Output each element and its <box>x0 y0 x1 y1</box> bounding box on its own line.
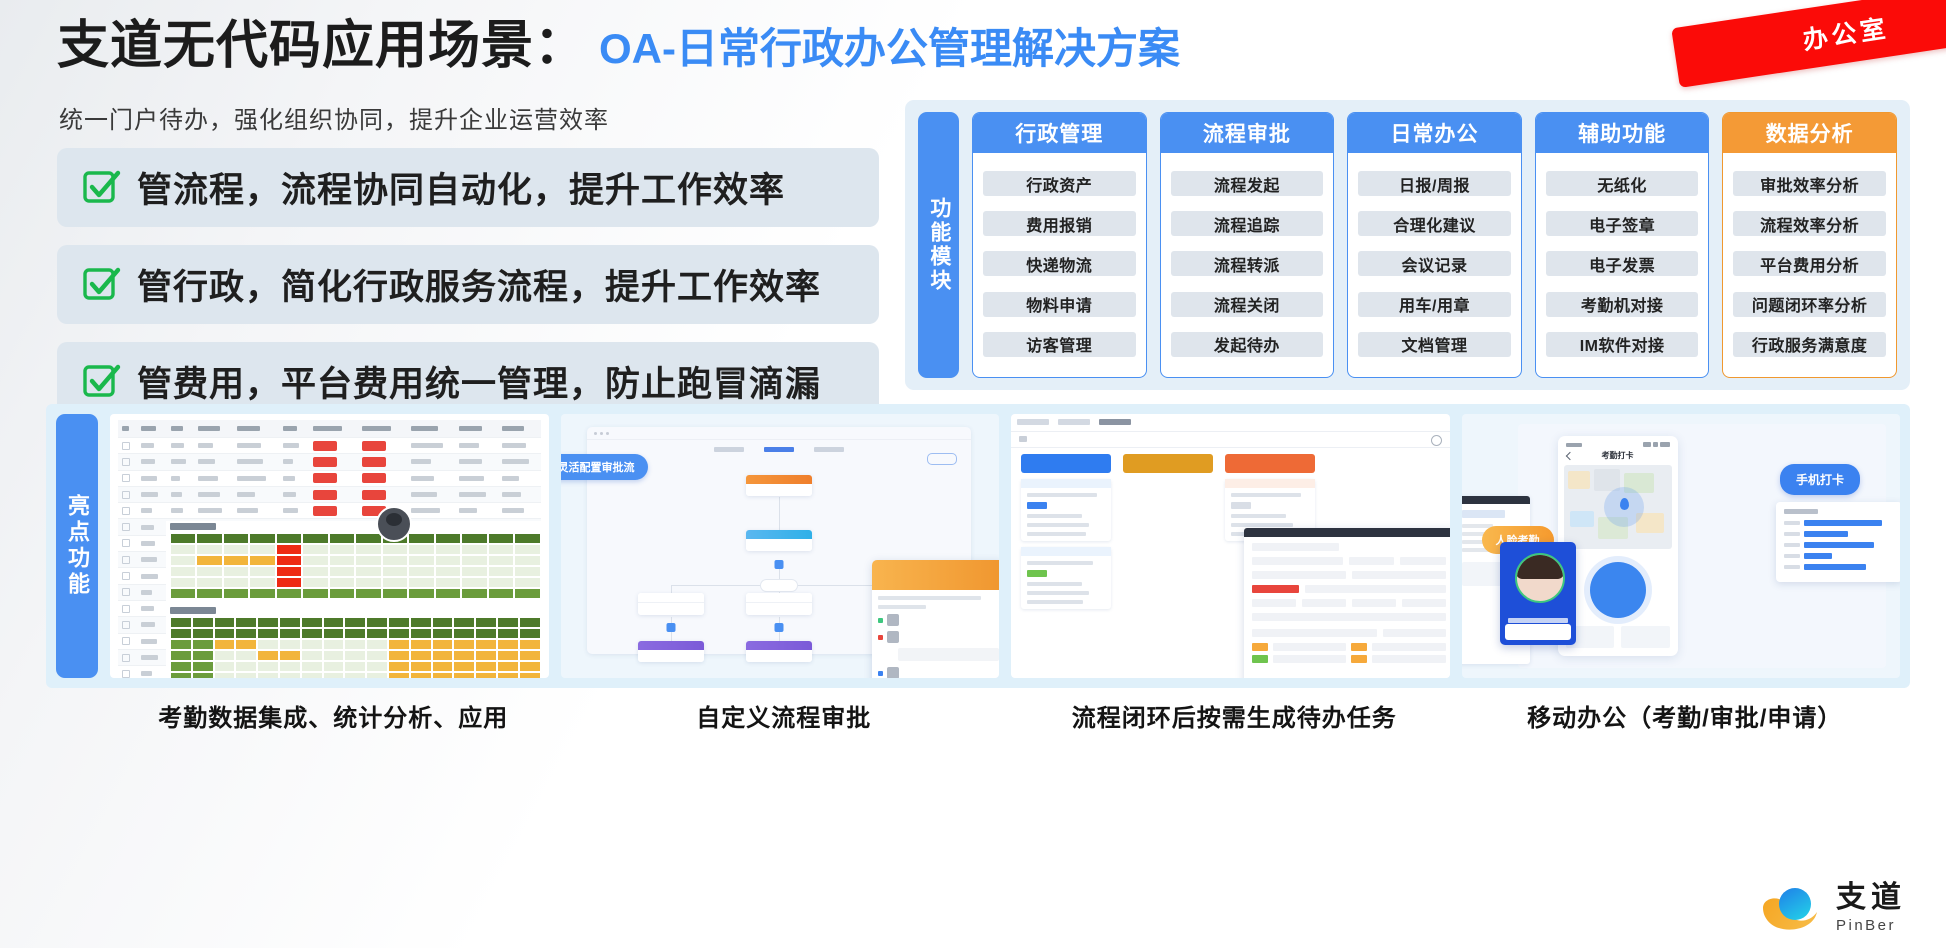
table-cell <box>118 539 137 547</box>
table-cell <box>118 426 137 431</box>
tab[interactable] <box>1058 419 1090 425</box>
avatar <box>887 631 899 643</box>
module-item[interactable]: 用车/用章 <box>1358 292 1511 317</box>
table-cell <box>233 508 279 513</box>
workflow-node-cc[interactable] <box>638 641 704 662</box>
grid-cell <box>223 555 249 566</box>
grid-cell <box>170 661 192 672</box>
back-icon[interactable] <box>1565 451 1573 459</box>
cell-text <box>141 443 154 448</box>
status-badge <box>313 506 337 516</box>
grid-cell <box>514 555 540 566</box>
cell-text <box>283 492 296 497</box>
tab-active[interactable] <box>764 447 794 452</box>
grid-cell <box>453 639 475 650</box>
grid-cell <box>170 672 192 678</box>
form-field[interactable] <box>1252 557 1343 565</box>
grid-cell <box>170 639 192 650</box>
table-cell <box>233 426 279 431</box>
approver-row <box>878 614 999 626</box>
module-item[interactable]: 电子发票 <box>1546 251 1699 276</box>
module-item-list: 流程发起 流程追踪 流程转派 流程关闭 发起待办 <box>1161 153 1334 377</box>
form-field[interactable] <box>1252 571 1346 579</box>
workflow-node-branch[interactable] <box>746 593 812 615</box>
cell-text <box>141 606 154 611</box>
table-cell <box>194 508 233 513</box>
grid-cell <box>276 577 302 588</box>
grid-cell <box>514 588 540 599</box>
form-field[interactable] <box>1383 629 1446 637</box>
cell-text <box>459 443 479 448</box>
module-item[interactable]: 考勤机对接 <box>1546 292 1699 317</box>
kanban-column-header <box>1123 454 1213 473</box>
grid-row <box>170 639 541 650</box>
status-badge <box>362 490 386 500</box>
cell-text <box>411 492 438 497</box>
form-field[interactable] <box>1352 571 1446 579</box>
node-header <box>638 641 704 650</box>
side-label-text: 亮点功能 <box>61 494 93 598</box>
screenshot-kanban[interactable] <box>1011 414 1450 678</box>
grid-cell <box>461 577 487 588</box>
grid-cell <box>196 533 222 544</box>
grid-cell <box>514 577 540 588</box>
table-cell <box>309 457 358 467</box>
status-badge <box>362 473 386 483</box>
row-checkbox[interactable] <box>122 507 130 515</box>
chart-bar-row <box>1784 564 1894 570</box>
grid-cell <box>170 566 196 577</box>
grid-cell <box>453 650 475 661</box>
form-field[interactable] <box>1302 599 1346 607</box>
grid-cell <box>323 628 345 639</box>
workflow-node-approve[interactable] <box>746 530 812 551</box>
grid-cell <box>366 672 388 678</box>
node-header <box>638 593 704 603</box>
cell-text <box>459 476 484 481</box>
attendance-stats-grid <box>170 617 541 678</box>
status-dot-icon <box>878 671 883 676</box>
module-column-title: 数据分析 <box>1723 113 1896 153</box>
module-column-daily: 日常办公 日报/周报 合理化建议 会议记录 用车/用章 文档管理 <box>1347 112 1522 378</box>
attendance-record-grid <box>170 533 541 599</box>
panel-body <box>1244 537 1450 669</box>
node-body <box>638 650 704 662</box>
recognition-result-row <box>1505 624 1571 640</box>
signal-icon <box>1643 442 1651 447</box>
grid-cell <box>170 577 196 588</box>
page-subtitle: 统一门户待办，强化组织协同，提升企业运营效率 <box>59 100 609 135</box>
grid-cell <box>475 672 497 678</box>
form-field[interactable] <box>1349 557 1395 565</box>
badge-mobile-punch: 手机打卡 <box>1780 464 1860 495</box>
grid-cell <box>488 544 514 555</box>
table-cell <box>407 459 456 464</box>
module-item[interactable]: 物料申请 <box>983 292 1136 317</box>
logo-mark-icon <box>1761 882 1823 934</box>
module-item[interactable]: 流程发起 <box>1171 171 1324 196</box>
table-row[interactable] <box>118 503 541 519</box>
tab[interactable] <box>814 447 844 452</box>
grid-cell <box>235 672 257 678</box>
table-cell <box>118 523 137 531</box>
node-header <box>746 641 812 650</box>
table-cell <box>407 508 456 513</box>
check-square-icon <box>82 265 121 304</box>
chart-title-placeholder <box>170 523 216 530</box>
table-cell <box>407 476 456 481</box>
grid-cell <box>257 672 279 678</box>
approver-row <box>878 631 999 643</box>
table-row[interactable] <box>118 487 541 503</box>
module-item[interactable]: 平台费用分析 <box>1733 251 1886 276</box>
row-checkbox[interactable] <box>122 523 130 531</box>
grid-cell <box>497 617 519 628</box>
grid-cell <box>475 661 497 672</box>
grid-row <box>170 544 541 555</box>
table-cell <box>167 459 194 464</box>
grid-cell <box>355 544 381 555</box>
card-header <box>872 560 999 590</box>
grid-cell <box>388 661 410 672</box>
logo-text: 支道 PinBer <box>1836 883 1906 933</box>
save-button[interactable] <box>927 453 957 465</box>
kanban-card[interactable] <box>1021 479 1111 541</box>
grid-cell <box>355 555 381 566</box>
grid-cell <box>344 617 366 628</box>
cell-text <box>141 655 158 660</box>
row-checkbox[interactable] <box>122 588 130 596</box>
table-cell <box>279 476 309 481</box>
form-field[interactable] <box>1252 629 1377 637</box>
grid-cell <box>249 533 275 544</box>
grid-cell <box>192 628 214 639</box>
module-column-title: 日常办公 <box>1348 113 1521 153</box>
grid-cell <box>382 588 408 599</box>
module-item[interactable]: 文档管理 <box>1358 332 1511 357</box>
row-checkbox[interactable] <box>122 491 130 499</box>
grid-cell <box>170 588 196 599</box>
module-item[interactable]: 流程转派 <box>1171 251 1324 276</box>
form-field[interactable] <box>1252 543 1339 551</box>
table-cell <box>118 442 137 450</box>
table-cell <box>118 458 137 466</box>
cell-text <box>283 443 299 448</box>
table-cell <box>137 426 167 431</box>
status-badge <box>313 457 337 467</box>
function-modules-panel: 功能模块 行政管理 行政资产 费用报销 快递物流 物料申请 访客管理 流程审批 … <box>905 100 1910 390</box>
phone-footer <box>1566 626 1670 648</box>
cell-text <box>237 443 260 448</box>
node-header <box>746 593 812 603</box>
grid-cell <box>192 617 214 628</box>
module-item[interactable]: 快递物流 <box>983 251 1136 276</box>
check-square-icon <box>82 362 121 401</box>
grid-row <box>170 661 541 672</box>
module-column-analytics: 数据分析 审批效率分析 流程效率分析 平台费用分析 问题闭环率分析 行政服务满意… <box>1722 112 1897 378</box>
module-item[interactable]: 流程追踪 <box>1171 211 1324 236</box>
table-row[interactable] <box>118 471 541 487</box>
row-checkbox[interactable] <box>122 572 130 580</box>
screenshot-workflow[interactable]: 灵活配置审批流 <box>561 414 1000 678</box>
tab-active[interactable] <box>1099 419 1131 425</box>
grid-cell <box>329 566 355 577</box>
grid-cell <box>223 566 249 577</box>
cell-text <box>171 443 184 448</box>
grid-cell <box>196 577 222 588</box>
module-item[interactable]: 流程效率分析 <box>1733 211 1886 236</box>
punch-button[interactable] <box>1590 562 1646 618</box>
row-checkbox[interactable] <box>122 670 130 678</box>
table-cell <box>279 443 309 448</box>
grid-cell <box>366 661 388 672</box>
table-cell <box>167 508 194 513</box>
table-cell <box>118 491 137 499</box>
row-checkbox[interactable] <box>122 605 130 613</box>
attendance-charts <box>166 521 545 676</box>
grid-cell <box>488 555 514 566</box>
chart-title-placeholder <box>1784 509 1818 514</box>
grid-row <box>170 588 541 599</box>
table-cell <box>407 492 456 497</box>
form-field[interactable] <box>1400 557 1446 565</box>
table-cell <box>498 426 541 431</box>
grid-cell <box>408 566 434 577</box>
grid-cell <box>170 544 196 555</box>
module-item[interactable]: 访客管理 <box>983 332 1136 357</box>
title-main: 支道无代码应用场景： <box>57 20 587 72</box>
grid-cell <box>519 672 541 678</box>
grid-row <box>170 555 541 566</box>
grid-cell <box>249 566 275 577</box>
battery-icon <box>1660 442 1670 447</box>
module-item-list: 行政资产 费用报销 快递物流 物料申请 访客管理 <box>973 153 1146 377</box>
grid-cell <box>214 672 236 678</box>
grid-cell <box>514 533 540 544</box>
kanban-column-header <box>1021 454 1111 473</box>
grid-cell <box>192 661 214 672</box>
table-cell <box>358 457 407 467</box>
page-title: 支道无代码应用场景： OA-日常行政办公管理解决方案 <box>57 20 1180 72</box>
grid-cell <box>323 617 345 628</box>
caption: 移动办公（考勤/审批/申请） <box>1460 692 1911 738</box>
module-item[interactable]: 合理化建议 <box>1358 211 1511 236</box>
cell-text <box>198 476 218 481</box>
row-checkbox[interactable] <box>122 474 130 482</box>
workflow-badge: 灵活配置审批流 <box>561 454 648 480</box>
row-checkbox[interactable] <box>122 637 130 645</box>
module-item[interactable]: 流程关闭 <box>1171 292 1324 317</box>
grid-cell <box>519 661 541 672</box>
form-field[interactable] <box>1352 599 1396 607</box>
grid-cell <box>453 617 475 628</box>
grid-cell <box>461 566 487 577</box>
grid-cell <box>235 661 257 672</box>
table-cell <box>309 426 358 431</box>
module-item[interactable]: IM软件对接 <box>1546 332 1699 357</box>
comment-box <box>898 648 999 661</box>
grid-row <box>170 566 541 577</box>
module-item[interactable]: 行政资产 <box>983 171 1136 196</box>
kanban-tabs[interactable] <box>1017 419 1131 425</box>
row-checkbox[interactable] <box>122 621 130 629</box>
row-checkbox[interactable] <box>122 556 130 564</box>
grid-cell <box>301 639 323 650</box>
grid-row <box>170 650 541 661</box>
add-node-icon[interactable] <box>667 623 676 632</box>
module-item[interactable]: 日报/周报 <box>1358 171 1511 196</box>
module-item[interactable]: 无纸化 <box>1546 171 1699 196</box>
row-checkbox[interactable] <box>122 458 130 466</box>
module-item[interactable]: 发起待办 <box>1171 332 1324 357</box>
grid-cell <box>302 577 328 588</box>
workflow-node-start[interactable] <box>746 475 812 496</box>
cell-text <box>198 459 216 464</box>
table-cell <box>194 492 233 497</box>
kanban-card[interactable] <box>1021 547 1111 609</box>
grid-cell <box>453 628 475 639</box>
grid-cell <box>366 639 388 650</box>
cell-text <box>411 443 443 448</box>
grid-cell <box>301 650 323 661</box>
workflow-tabs[interactable] <box>587 447 972 452</box>
grid-cell <box>279 650 301 661</box>
workflow-node-branch[interactable] <box>638 593 704 615</box>
chart-bar-row <box>1784 520 1894 526</box>
row-badge <box>1351 643 1367 651</box>
grid-cell <box>279 661 301 672</box>
cell-text <box>171 459 186 464</box>
grid-cell <box>344 661 366 672</box>
cell-text <box>141 557 157 562</box>
cell-text <box>502 508 524 513</box>
benefit-item: 管流程，流程协同自动化，提升工作效率 <box>57 148 879 227</box>
grid-cell <box>453 672 475 678</box>
form-field[interactable] <box>1252 599 1296 607</box>
screenshot-captions: 考勤数据集成、统计分析、应用 自定义流程审批 流程闭环后按需生成待办任务 移动办… <box>108 692 1910 738</box>
module-item[interactable]: 行政服务满意度 <box>1733 332 1886 357</box>
form-field[interactable] <box>1252 613 1446 621</box>
form-field[interactable] <box>1402 599 1446 607</box>
status-dot-icon <box>878 618 883 623</box>
grid-cell <box>329 544 355 555</box>
map-view[interactable] <box>1564 465 1672 549</box>
grid-cell <box>302 533 328 544</box>
grid-cell <box>388 617 410 628</box>
function-modules-side-label: 功能模块 <box>918 112 959 378</box>
grid-cell <box>276 544 302 555</box>
table-cell <box>118 572 137 580</box>
card-header <box>1021 479 1111 488</box>
module-item[interactable]: 电子签章 <box>1546 211 1699 236</box>
table-cell <box>118 670 137 678</box>
grid-cell <box>249 588 275 599</box>
grid-row <box>170 628 541 639</box>
workflow-node-cc[interactable] <box>746 641 812 662</box>
card-body <box>872 590 999 678</box>
grid-cell <box>329 588 355 599</box>
avatar <box>1515 553 1565 603</box>
approval-detail-card[interactable] <box>872 560 999 678</box>
check-square-icon <box>82 168 121 207</box>
grid-cell <box>257 617 279 628</box>
benefit-item: 管行政，简化行政服务流程，提升工作效率 <box>57 245 879 324</box>
row-checkbox[interactable] <box>122 654 130 662</box>
tab[interactable] <box>714 447 744 452</box>
cell-text <box>141 574 158 579</box>
condition-node[interactable] <box>760 579 798 592</box>
module-item[interactable]: 审批效率分析 <box>1733 171 1886 196</box>
module-column-assist: 辅助功能 无纸化 电子签章 电子发票 考勤机对接 IM软件对接 <box>1535 112 1710 378</box>
form-detail-panel[interactable] <box>1244 528 1450 678</box>
cell-text <box>502 476 519 481</box>
table-cell <box>137 574 167 579</box>
grid-cell <box>323 672 345 678</box>
grid-cell <box>235 628 257 639</box>
row-checkbox[interactable] <box>122 539 130 547</box>
card-header <box>1225 479 1315 488</box>
module-column-approval: 流程审批 流程发起 流程追踪 流程转派 流程关闭 发起待办 <box>1160 112 1335 378</box>
ribbon-label: 办公室 <box>1800 9 1891 57</box>
tab[interactable] <box>1017 419 1049 425</box>
cell-text <box>502 459 529 464</box>
grid-cell <box>276 555 302 566</box>
wifi-icon <box>1653 442 1658 447</box>
grid-cell <box>461 544 487 555</box>
grid-cell <box>223 544 249 555</box>
grid-cell <box>301 661 323 672</box>
corner-ribbon: 办公室 <box>1671 0 1946 88</box>
module-item[interactable]: 问题闭环率分析 <box>1733 292 1886 317</box>
module-item-list: 日报/周报 合理化建议 会议记录 用车/用章 文档管理 <box>1348 153 1521 377</box>
table-row[interactable] <box>118 454 541 470</box>
add-node-icon[interactable] <box>774 560 783 569</box>
table-cell <box>233 476 279 481</box>
screenshot-attendance[interactable] <box>110 414 549 678</box>
cell-text <box>502 443 526 448</box>
grid-cell <box>323 639 345 650</box>
cell-text <box>459 459 481 464</box>
module-item[interactable]: 会议记录 <box>1358 251 1511 276</box>
benefits-list: 管流程，流程协同自动化，提升工作效率 管行政，简化行政服务流程，提升工作效率 管… <box>57 148 879 439</box>
grid-cell <box>170 533 196 544</box>
module-item[interactable]: 费用报销 <box>983 211 1136 236</box>
grid-cell <box>432 628 454 639</box>
grid-cell <box>170 617 192 628</box>
cell-text <box>198 508 222 513</box>
cell-text <box>411 508 440 513</box>
grid-cell <box>276 588 302 599</box>
chart-bar-row <box>1784 531 1894 537</box>
grid-cell <box>257 628 279 639</box>
grid-cell <box>366 617 388 628</box>
side-label-text: 功能模块 <box>926 197 951 293</box>
avatar <box>887 614 899 626</box>
cell-text <box>283 459 293 464</box>
table-row[interactable] <box>118 438 541 454</box>
row-checkbox[interactable] <box>122 442 130 450</box>
add-node-icon[interactable] <box>774 623 783 632</box>
avatar-hair <box>1516 553 1564 579</box>
table-cell <box>309 490 358 500</box>
screenshot-mobile[interactable]: 考勤打卡 <box>1462 414 1901 678</box>
table-cell <box>137 671 167 676</box>
search-icon[interactable] <box>1431 435 1442 446</box>
table-cell <box>118 474 137 482</box>
grid-cell <box>196 555 222 566</box>
grid-cell <box>301 617 323 628</box>
grid-cell <box>366 650 388 661</box>
